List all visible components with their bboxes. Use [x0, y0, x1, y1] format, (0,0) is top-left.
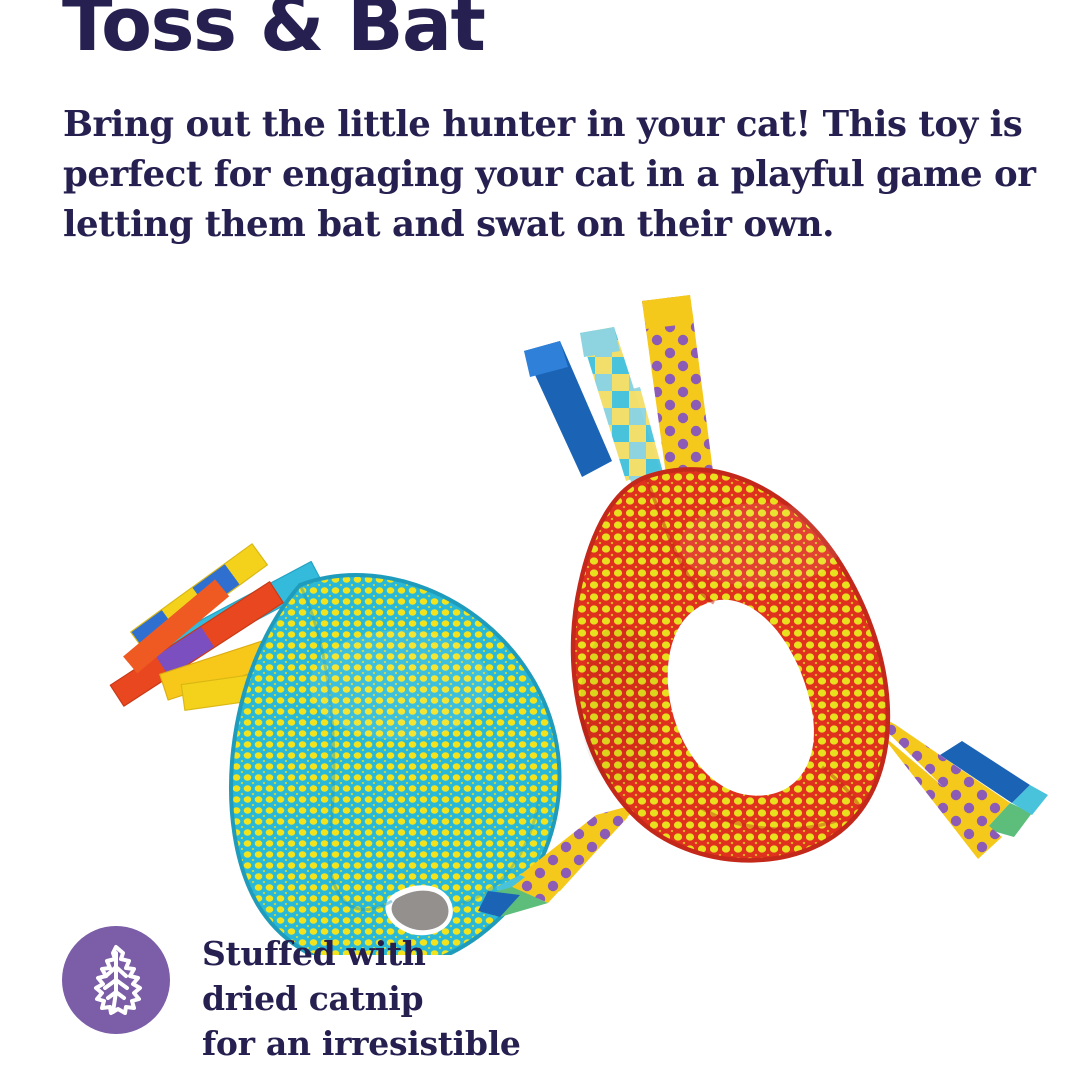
product-description: Bring out the little hunter in your cat!… — [63, 100, 993, 250]
page-title: Toss & Bat — [62, 0, 484, 62]
catnip-badge-line: for an irresistible — [202, 1021, 521, 1066]
catnip-badge: Stuffed with dried catnip for an irresis… — [62, 920, 521, 1066]
catnip-badge-line: Stuffed with — [202, 931, 521, 976]
product-photo — [0, 255, 1080, 955]
leaf-icon — [62, 926, 170, 1034]
description-line: Bring out the little hunter in your cat!… — [63, 100, 993, 150]
description-line: perfect for engaging your cat in a playf… — [63, 150, 993, 200]
product-card: Toss & Bat Bring out the little hunter i… — [0, 0, 1080, 1080]
description-line: letting them bat and swat on their own. — [63, 200, 993, 250]
catnip-badge-line: dried catnip — [202, 976, 521, 1021]
catnip-badge-text: Stuffed with dried catnip for an irresis… — [202, 920, 521, 1066]
